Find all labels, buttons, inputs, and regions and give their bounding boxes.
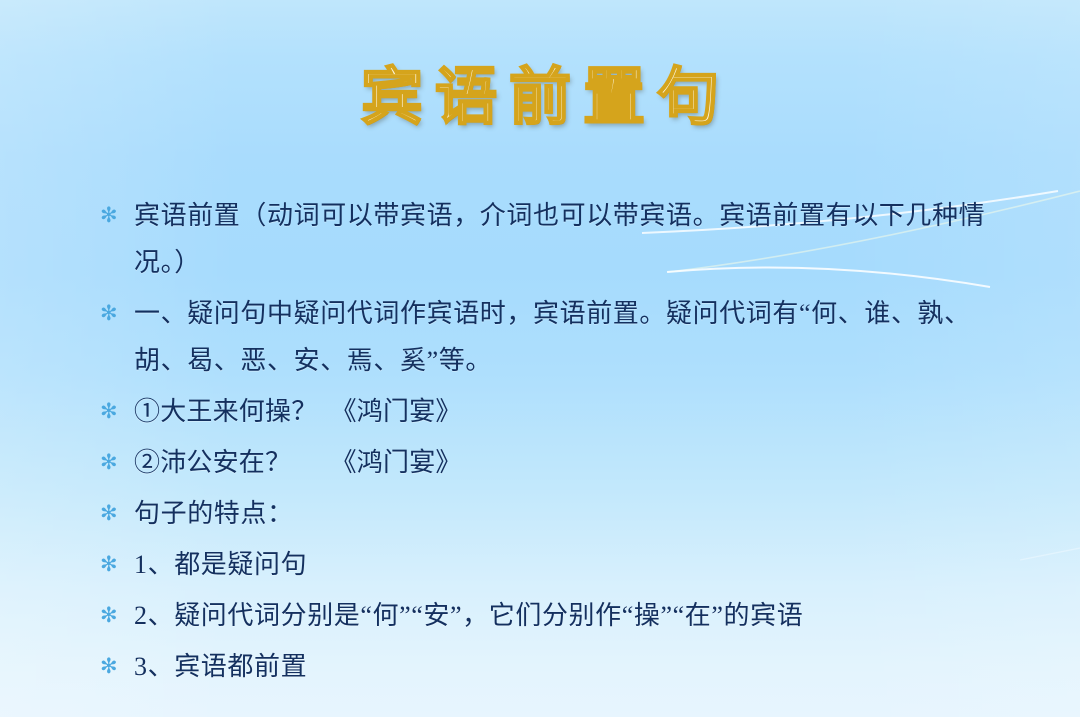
- list-item-text: 宾语前置（动词可以带宾语，介词也可以带宾语。宾语前置有以下几种情况。）: [134, 192, 1006, 286]
- list-item: ✻ ②沛公安在？ 《鸿门宴》: [100, 439, 1006, 486]
- list-item: ✻ ①大王来何操？ 《鸿门宴》: [100, 388, 1006, 435]
- list-item: ✻ 1、都是疑问句: [100, 541, 1006, 588]
- presentation-slide: 宾语前置句 ✻ 宾语前置（动词可以带宾语，介词也可以带宾语。宾语前置有以下几种情…: [0, 0, 1080, 717]
- asterisk-bullet-icon: ✻: [100, 592, 134, 639]
- list-item-text: 2、疑问代词分别是“何”“安”，它们分别作“操”“在”的宾语: [134, 592, 1006, 639]
- list-item: ✻ 句子的特点：: [100, 490, 1006, 537]
- list-item-text: 一、疑问句中疑问代词作宾语时，宾语前置。疑问代词有“何、谁、孰、胡、曷、恶、安、…: [134, 290, 1006, 384]
- asterisk-bullet-icon: ✻: [100, 490, 134, 537]
- asterisk-bullet-icon: ✻: [100, 643, 134, 690]
- page-title: 宾语前置句: [349, 64, 731, 129]
- list-item: ✻ 一、疑问句中疑问代词作宾语时，宾语前置。疑问代词有“何、谁、孰、胡、曷、恶、…: [100, 290, 1006, 384]
- slide-title-container: 宾语前置句: [0, 64, 1080, 129]
- bullet-list: ✻ 宾语前置（动词可以带宾语，介词也可以带宾语。宾语前置有以下几种情况。） ✻ …: [100, 192, 1006, 694]
- asterisk-bullet-icon: ✻: [100, 388, 134, 435]
- list-item-text: 1、都是疑问句: [134, 541, 1006, 588]
- asterisk-bullet-icon: ✻: [100, 439, 134, 486]
- asterisk-bullet-icon: ✻: [100, 290, 134, 337]
- asterisk-bullet-icon: ✻: [100, 192, 134, 239]
- list-item: ✻ 3、宾语都前置: [100, 643, 1006, 690]
- list-item-text: ①大王来何操？ 《鸿门宴》: [134, 388, 1006, 435]
- list-item: ✻ 2、疑问代词分别是“何”“安”，它们分别作“操”“在”的宾语: [100, 592, 1006, 639]
- list-item: ✻ 宾语前置（动词可以带宾语，介词也可以带宾语。宾语前置有以下几种情况。）: [100, 192, 1006, 286]
- list-item-text: 句子的特点：: [134, 490, 1006, 537]
- asterisk-bullet-icon: ✻: [100, 541, 134, 588]
- list-item-text: 3、宾语都前置: [134, 643, 1006, 690]
- list-item-text: ②沛公安在？ 《鸿门宴》: [134, 439, 1006, 486]
